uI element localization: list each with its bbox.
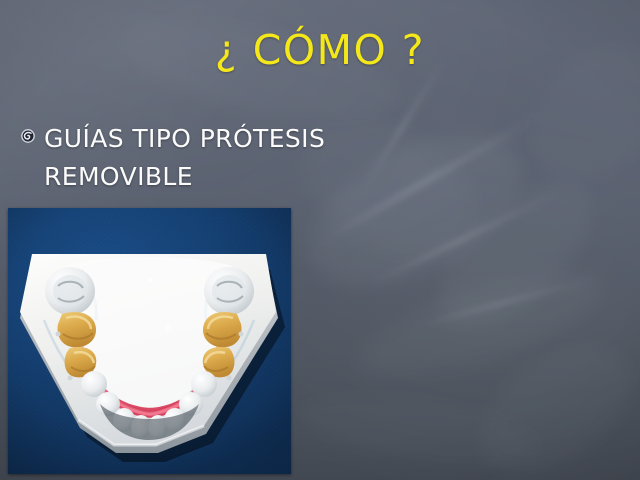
list-item: GUÍAS TIPO PRÓTESIS REMOVIBLE	[20, 120, 440, 196]
presentation-slide: ¿ CÓMO ? GUÍAS TIPO PRÓTESIS REMOVIBLE	[0, 0, 640, 480]
spiral-bullet-icon	[20, 128, 36, 144]
dental-cast-illustration	[8, 208, 291, 474]
bullet-list: GUÍAS TIPO PRÓTESIS REMOVIBLE	[20, 120, 440, 196]
list-item-label: GUÍAS TIPO PRÓTESIS REMOVIBLE	[44, 120, 325, 196]
slide-title: ¿ CÓMO ?	[0, 26, 640, 74]
dental-cast-photo	[8, 208, 291, 474]
